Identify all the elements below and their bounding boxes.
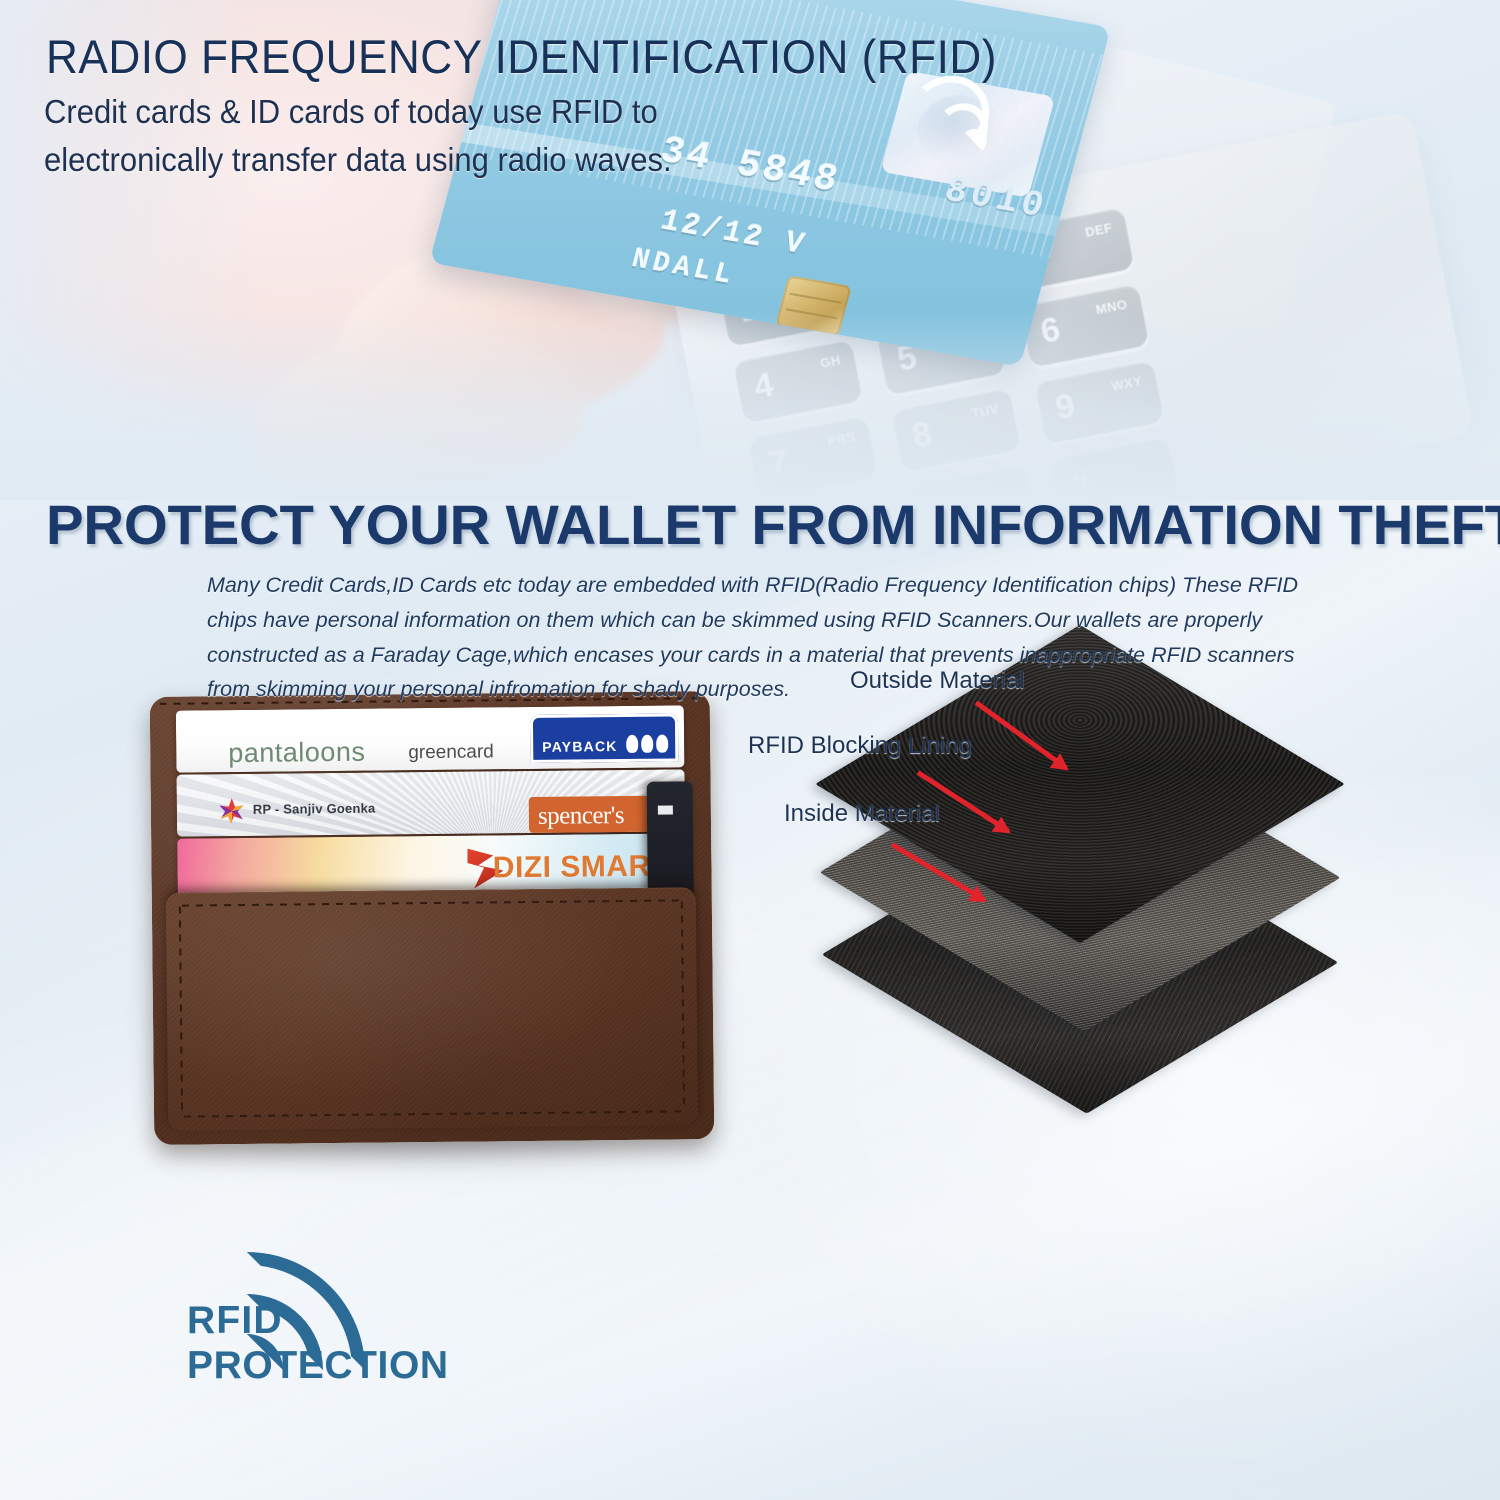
hero-subtitle-line-1: Credit cards & ID cards of today use RFI… xyxy=(44,88,672,136)
spencers-label: spencer's xyxy=(538,802,624,831)
hero-subtitle-line-2: electronically transfer data using radio… xyxy=(44,136,672,184)
wallet-front-pocket xyxy=(166,887,698,1131)
logo-line-1: RFID xyxy=(187,1299,283,1343)
wallet-body: pantaloons greencard PAYBACK RP - Sanjiv… xyxy=(150,691,715,1145)
logo-line-2: PROTECTION xyxy=(187,1344,449,1388)
card-brand-label: DIZI SMART xyxy=(493,850,670,886)
card-brand-label: pantaloons xyxy=(228,737,365,769)
layer-label-lining: RFID Blocking Lining xyxy=(748,732,972,760)
payback-badge: PAYBACK xyxy=(530,713,678,763)
page-title: PROTECT YOUR WALLET FROM INFORMATION THE… xyxy=(46,497,1500,553)
card-holder-name: NDALL xyxy=(628,244,738,292)
body-paragraph: Many Credit Cards,ID Cards etc today are… xyxy=(207,568,1327,707)
leather-texture xyxy=(166,887,698,1131)
payback-dots-icon xyxy=(626,735,668,753)
card-pantaloons: pantaloons greencard PAYBACK xyxy=(176,705,685,772)
hero-title: RADIO FREQUENCY IDENTIFICATION (RFID) xyxy=(46,33,997,80)
wallet-product-photo: pantaloons greencard PAYBACK RP - Sanjiv… xyxy=(150,691,715,1145)
edge-card-mark xyxy=(658,805,673,814)
hero-subtitle: Credit cards & ID cards of today use RFI… xyxy=(44,88,672,184)
key-letters: DEF xyxy=(1084,222,1113,238)
hero-bottom-fade xyxy=(0,310,1500,500)
card-spencers: RP - Sanjiv Goenka spencer's xyxy=(176,769,685,836)
rfid-protection-logo: RFID PROTECTION xyxy=(187,1252,487,1427)
payback-label: PAYBACK xyxy=(542,738,617,755)
card-secondary-label: greencard xyxy=(408,741,494,764)
card-slot: RP - Sanjiv Goenka spencer's xyxy=(176,769,685,836)
card-slot: pantaloons greencard PAYBACK xyxy=(176,705,685,772)
infographic-canvas: 1 QZ 2 ABC 3 DEF 4 GH xyxy=(0,0,1500,1500)
layer-label-inside: Inside Material xyxy=(784,800,940,828)
card-brand-label: RP - Sanjiv Goenka xyxy=(253,801,376,817)
